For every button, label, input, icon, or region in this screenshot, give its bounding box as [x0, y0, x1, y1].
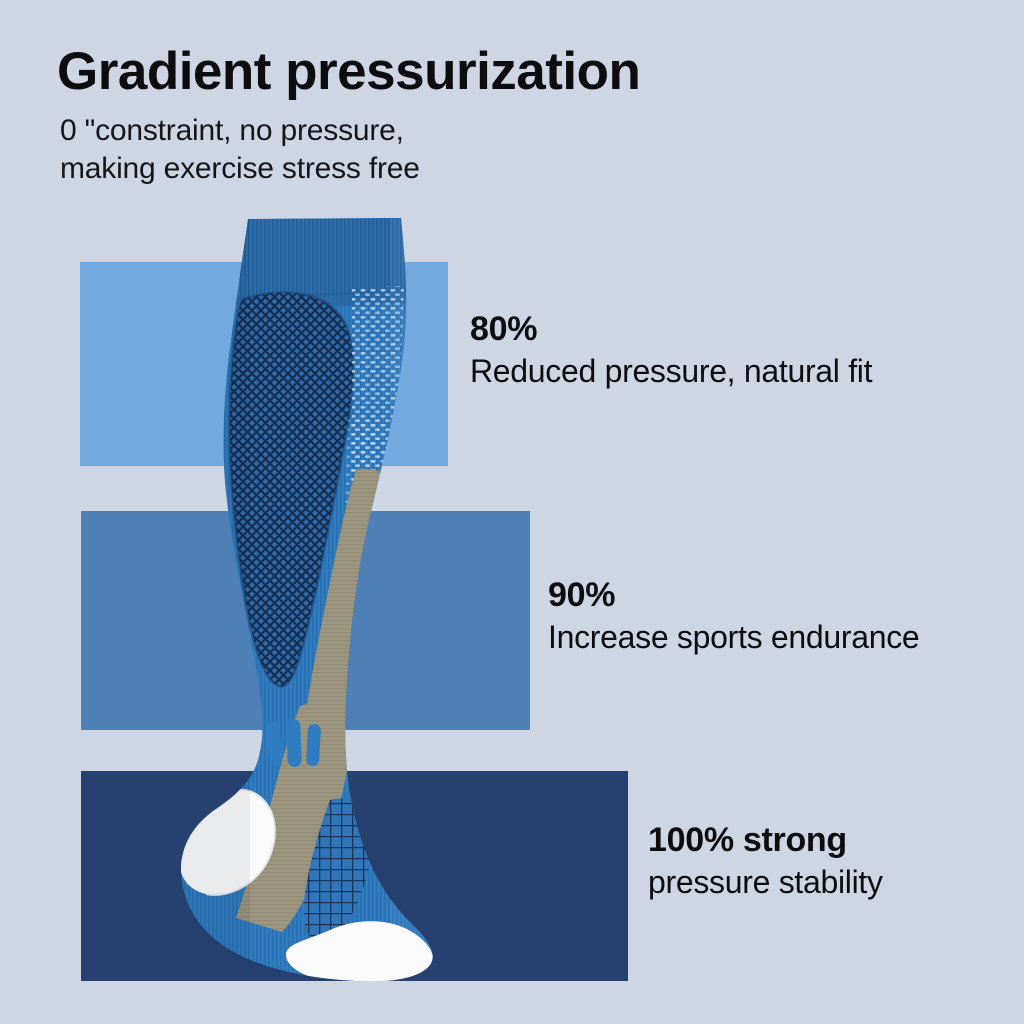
callout-80-percent: 80%	[470, 307, 872, 351]
infographic-poster: Gradient pressurization 0 "constraint, n…	[0, 0, 1024, 1024]
callout-90-percent: 90%	[548, 573, 919, 617]
page-title: Gradient pressurization	[57, 44, 640, 100]
callout-100-description: pressure stability	[648, 862, 883, 904]
page-subtitle: 0 "constraint, no pressure, making exerc…	[60, 112, 420, 187]
callout-90-description: Increase sports endurance	[548, 617, 919, 659]
callout-80-description: Reduced pressure, natural fit	[470, 351, 872, 393]
callout-80: 80% Reduced pressure, natural fit	[470, 307, 872, 393]
level-bar-90	[81, 511, 530, 730]
callout-100-percent: 100% strong	[648, 818, 883, 862]
callout-100: 100% strong pressure stability	[648, 818, 883, 904]
level-bar-100	[81, 771, 628, 981]
level-bar-80	[80, 262, 448, 466]
callout-90: 90% Increase sports endurance	[548, 573, 919, 659]
